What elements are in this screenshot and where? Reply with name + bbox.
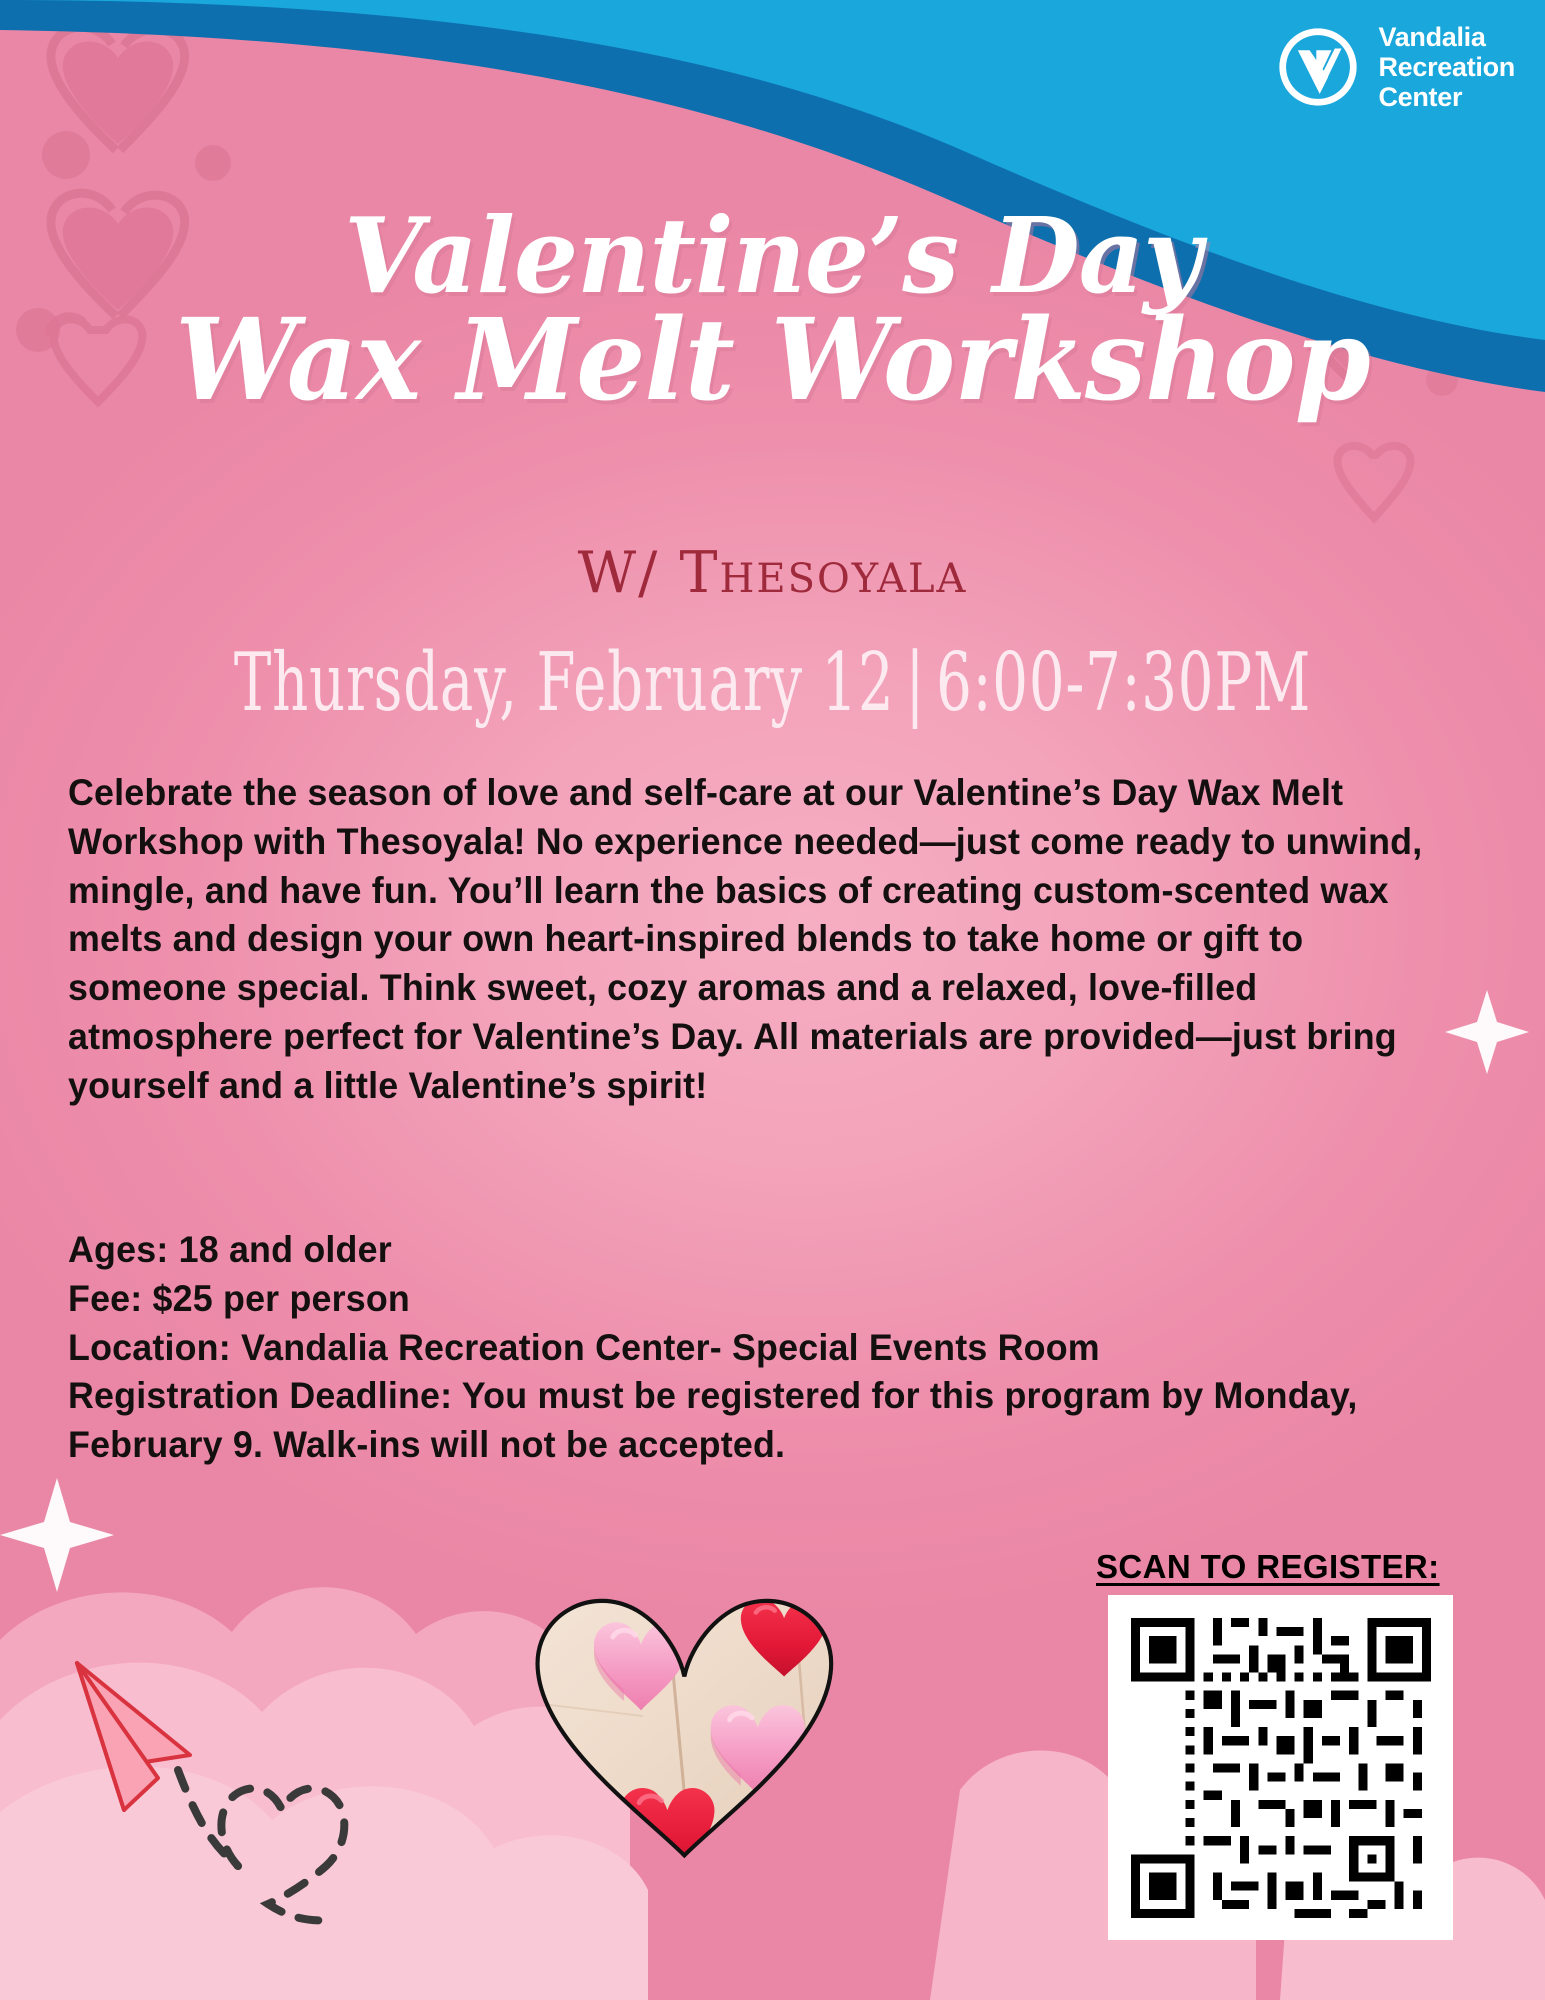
sparkle-icon-right xyxy=(1445,990,1529,1074)
qr-code-icon[interactable] xyxy=(1131,1618,1431,1918)
event-date: Thursday, February 12 xyxy=(234,635,895,729)
presenter-subtitle: W/ Thesoyala xyxy=(0,540,1545,606)
vandalia-v-circle-icon xyxy=(1276,25,1360,109)
event-description: Celebrate the season of love and self-ca… xyxy=(68,768,1429,1109)
brand-logo-text: Vandalia Recreation Center xyxy=(1378,22,1515,113)
flyer-canvas: Vandalia Recreation Center Valentine’s D… xyxy=(0,0,1545,2000)
event-details: Ages: 18 and older Fee: $25 per person L… xyxy=(68,1225,1443,1469)
heart-photo-mask xyxy=(530,1548,850,1918)
heart-doodle-small-right xyxy=(1338,446,1411,518)
detail-ages: Ages: 18 and older xyxy=(68,1225,1443,1274)
title-line-1: Valentine’s Day xyxy=(23,206,1522,307)
detail-deadline: Registration Deadline: You must be regis… xyxy=(68,1371,1443,1469)
brand-logo: Vandalia Recreation Center xyxy=(1276,22,1515,113)
page-title: Valentine’s Day Wax Melt Workshop xyxy=(23,206,1522,416)
scan-to-register-label: SCAN TO REGISTER: xyxy=(1096,1548,1440,1586)
sparkle-icon-left xyxy=(0,1478,114,1592)
logo-line-1: Vandalia xyxy=(1378,22,1515,52)
detail-fee: Fee: $25 per person xyxy=(68,1274,1443,1323)
qr-code[interactable] xyxy=(1108,1595,1453,1940)
logo-line-2: Recreation xyxy=(1378,52,1515,82)
logo-line-3: Center xyxy=(1378,82,1515,112)
event-time: 6:00-7:30PM xyxy=(936,635,1311,729)
detail-location: Location: Vandalia Recreation Center- Sp… xyxy=(68,1323,1443,1372)
event-datetime: Thursday, February 12|6:00-7:30PM xyxy=(170,635,1375,729)
title-line-2: Wax Melt Workshop xyxy=(23,307,1522,416)
datetime-separator: | xyxy=(895,635,937,729)
